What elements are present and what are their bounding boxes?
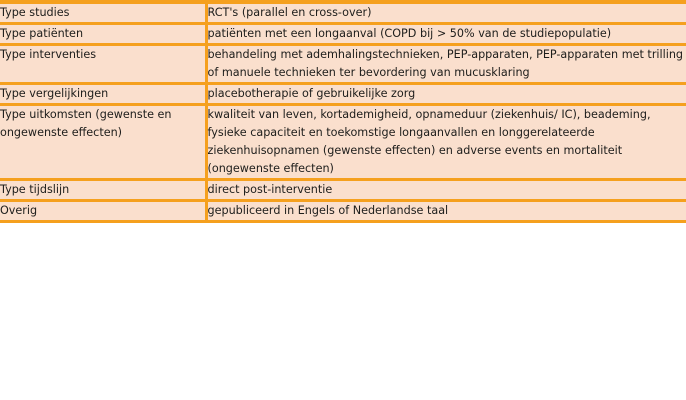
row-value-cell: behandeling met ademhalingstechnieken, P…: [206, 45, 686, 84]
row-label-cell: Type tijdslijn: [0, 180, 206, 201]
table-row: Type vergelijkingen placebotherapie of g…: [0, 84, 686, 105]
row-label-text: Type studies: [0, 4, 205, 22]
row-value-cell: placebotherapie of gebruikelijke zorg: [206, 84, 686, 105]
page-bottom-margin: [0, 223, 686, 228]
row-label-text: Type interventies: [0, 46, 205, 64]
table-row: Type tijdslijn direct post-interventie: [0, 180, 686, 201]
row-label-text: Type vergelijkingen: [0, 85, 205, 103]
row-value-text: RCT's (parallel en cross-over): [208, 4, 686, 22]
row-label-cell: Type patiënten: [0, 24, 206, 45]
criteria-table: Type studies RCT's (parallel en cross-ov…: [0, 4, 686, 220]
table-row: Type patiënten patiënten met een longaan…: [0, 24, 686, 45]
row-label-cell: Type vergelijkingen: [0, 84, 206, 105]
row-value-text: patiënten met een longaanval (COPD bij >…: [208, 25, 686, 43]
row-label-cell: Type uitkomsten (gewenste en ongewenste …: [0, 105, 206, 180]
row-label-cell: Type interventies: [0, 45, 206, 84]
row-value-cell: kwaliteit van leven, kortademigheid, opn…: [206, 105, 686, 180]
row-value-cell: gepubliceerd in Engels of Nederlandse ta…: [206, 201, 686, 221]
table-row: Overig gepubliceerd in Engels of Nederla…: [0, 201, 686, 221]
row-label-cell: Type studies: [0, 4, 206, 24]
row-label-text: Overig: [0, 202, 205, 220]
row-value-text: direct post-interventie: [208, 181, 686, 199]
row-value-cell: direct post-interventie: [206, 180, 686, 201]
row-value-cell: patiënten met een longaanval (COPD bij >…: [206, 24, 686, 45]
table-row: Type interventies behandeling met ademha…: [0, 45, 686, 84]
table-body: Type studies RCT's (parallel en cross-ov…: [0, 4, 686, 220]
row-value-text: kwaliteit van leven, kortademigheid, opn…: [208, 106, 686, 178]
row-value-text: behandeling met ademhalingstechnieken, P…: [208, 46, 686, 82]
row-value-text: placebotherapie of gebruikelijke zorg: [208, 85, 686, 103]
table-row: Type uitkomsten (gewenste en ongewenste …: [0, 105, 686, 180]
row-label-text: Type patiënten: [0, 25, 205, 43]
row-label-text: Type tijdslijn: [0, 181, 205, 199]
row-label-cell: Overig: [0, 201, 206, 221]
row-value-text: gepubliceerd in Engels of Nederlandse ta…: [208, 202, 686, 220]
table-row: Type studies RCT's (parallel en cross-ov…: [0, 4, 686, 24]
row-value-cell: RCT's (parallel en cross-over): [206, 4, 686, 24]
row-label-text: Type uitkomsten (gewenste en ongewenste …: [0, 106, 205, 142]
